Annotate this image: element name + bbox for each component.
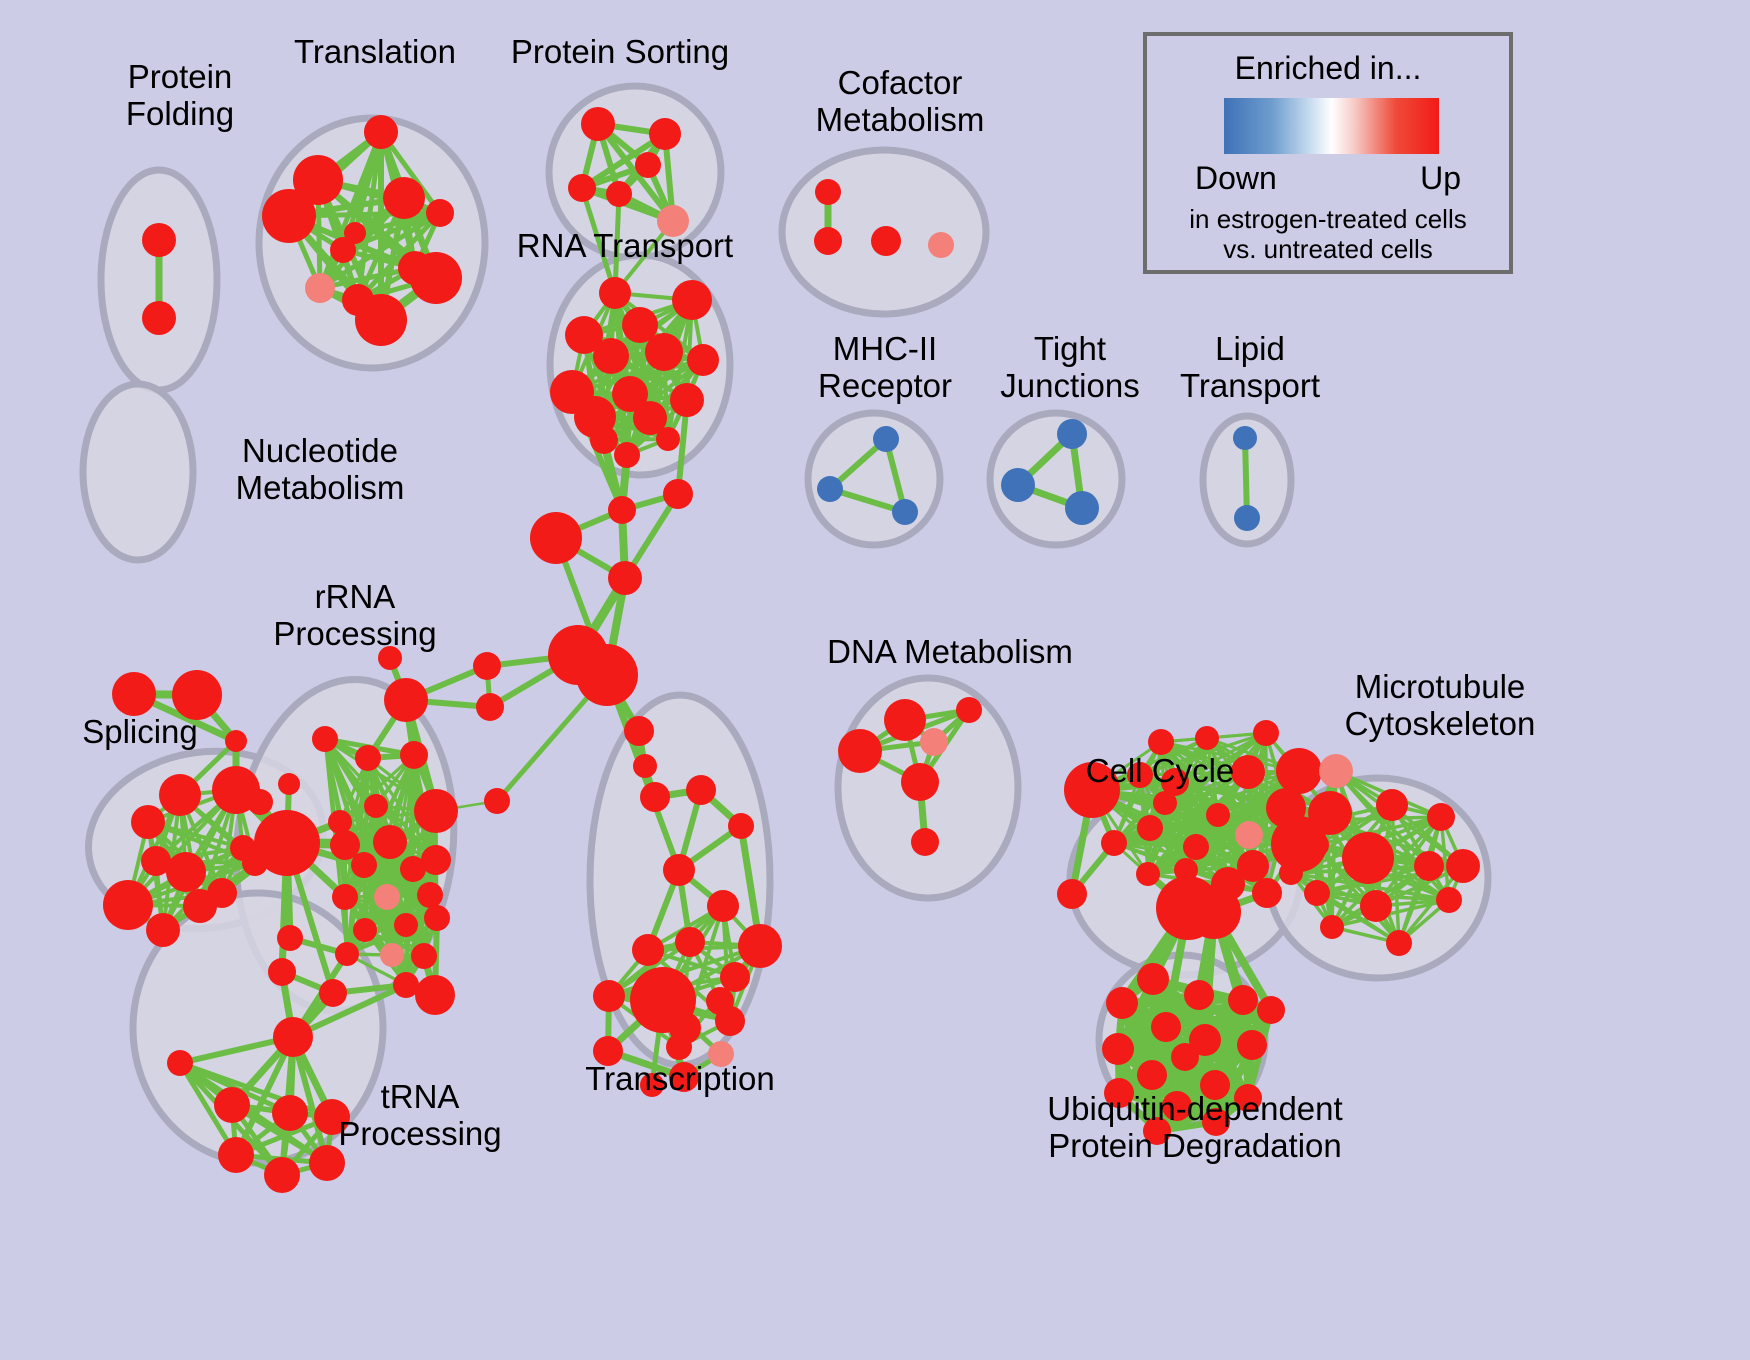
network-node[interactable] <box>207 878 237 908</box>
network-node[interactable] <box>720 962 750 992</box>
network-node[interactable] <box>815 179 841 205</box>
network-node[interactable] <box>159 774 201 816</box>
legend-box: Enriched in... Down Up in estrogen-treat… <box>1143 32 1513 274</box>
network-node[interactable] <box>355 745 381 771</box>
network-node[interactable] <box>1195 726 1219 750</box>
network-node[interactable] <box>426 199 454 227</box>
network-node[interactable] <box>1237 1030 1267 1060</box>
network-node[interactable] <box>884 699 926 741</box>
network-node[interactable] <box>706 987 734 1015</box>
network-node[interactable] <box>687 344 719 376</box>
network-node[interactable] <box>581 107 615 141</box>
network-node[interactable] <box>1065 491 1099 525</box>
network-node[interactable] <box>411 943 437 969</box>
network-node[interactable] <box>1253 720 1279 746</box>
network-node[interactable] <box>262 189 316 243</box>
network-node[interactable] <box>633 754 657 778</box>
network-node[interactable] <box>1233 426 1257 450</box>
network-node[interactable] <box>218 1137 254 1173</box>
network-node[interactable] <box>131 805 165 839</box>
network-node[interactable] <box>112 672 156 716</box>
network-node[interactable] <box>1414 851 1444 881</box>
legend-title: Enriched in... <box>1147 50 1509 87</box>
network-node[interactable] <box>606 181 632 207</box>
network-node[interactable] <box>649 118 681 150</box>
network-node[interactable] <box>670 383 704 417</box>
cluster-label-protein-sorting: Protein Sorting <box>480 33 760 70</box>
network-node[interactable] <box>624 716 654 746</box>
network-node[interactable] <box>1304 880 1330 906</box>
network-node[interactable] <box>901 763 939 801</box>
network-node[interactable] <box>1183 834 1209 860</box>
network-node[interactable] <box>672 280 712 320</box>
network-node[interactable] <box>1137 1060 1167 1090</box>
network-node[interactable] <box>142 301 176 335</box>
network-node[interactable] <box>335 942 359 966</box>
network-node[interactable] <box>892 499 918 525</box>
network-node[interactable] <box>911 828 939 856</box>
network-node[interactable] <box>1252 878 1282 908</box>
network-node[interactable] <box>277 925 303 951</box>
cluster-label-rrna-processing: rRNA Processing <box>245 578 465 652</box>
network-node[interactable] <box>273 1017 313 1057</box>
network-node[interactable] <box>1137 963 1169 995</box>
network-node[interactable] <box>1279 861 1303 885</box>
network-node[interactable] <box>1257 996 1285 1024</box>
network-node[interactable] <box>247 789 273 815</box>
network-node[interactable] <box>1151 1012 1181 1042</box>
network-node[interactable] <box>871 226 901 256</box>
network-node[interactable] <box>1436 887 1462 913</box>
legend-caption-line2: vs. untreated cells <box>1223 234 1433 264</box>
network-node[interactable] <box>272 1095 308 1131</box>
legend-low-label: Down <box>1195 160 1277 197</box>
network-node[interactable] <box>632 934 664 966</box>
network-node[interactable] <box>608 496 636 524</box>
network-node[interactable] <box>476 693 504 721</box>
cluster-label-rna-transport: RNA Transport <box>485 227 765 264</box>
network-node[interactable] <box>1319 754 1353 788</box>
network-node[interactable] <box>1001 468 1035 502</box>
network-node[interactable] <box>838 729 882 773</box>
network-node[interactable] <box>1057 879 1087 909</box>
network-node[interactable] <box>1106 987 1138 1019</box>
network-node[interactable] <box>142 223 176 257</box>
network-node[interactable] <box>264 1157 300 1193</box>
network-node[interactable] <box>1320 915 1344 939</box>
network-node[interactable] <box>473 652 501 680</box>
network-node[interactable] <box>414 789 458 833</box>
network-node[interactable] <box>635 152 661 178</box>
network-node[interactable] <box>1136 862 1160 886</box>
network-node[interactable] <box>424 905 450 931</box>
network-node[interactable] <box>608 561 642 595</box>
legend-caption-line1: in estrogen-treated cells <box>1189 204 1466 234</box>
network-node[interactable] <box>319 979 347 1007</box>
network-node[interactable] <box>146 913 180 947</box>
network-node[interactable] <box>484 788 510 814</box>
legend-color-gradient-bar <box>1224 98 1439 154</box>
network-node[interactable] <box>675 927 705 957</box>
network-node[interactable] <box>814 227 842 255</box>
cluster-label-transcription: Transcription <box>555 1060 805 1097</box>
network-node[interactable] <box>305 273 335 303</box>
cluster-label-microtubule-cytoskeleton: Microtubule Cytoskeleton <box>1285 668 1595 742</box>
network-node[interactable] <box>364 115 398 149</box>
network-node[interactable] <box>103 880 153 930</box>
network-node[interactable] <box>364 794 388 818</box>
network-node[interactable] <box>738 924 782 968</box>
cluster-label-tight-junctions: Tight Junctions <box>975 330 1165 404</box>
network-node[interactable] <box>593 338 629 374</box>
network-node[interactable] <box>312 726 338 752</box>
network-node[interactable] <box>410 252 462 304</box>
network-node[interactable] <box>1206 803 1230 827</box>
network-node[interactable] <box>1228 985 1258 1015</box>
network-node[interactable] <box>656 427 680 451</box>
network-node[interactable] <box>344 222 366 244</box>
network-node[interactable] <box>384 678 428 722</box>
network-node[interactable] <box>593 980 625 1012</box>
network-node[interactable] <box>1376 789 1408 821</box>
cluster-label-cofactor-metabolism: Cofactor Metabolism <box>775 64 1025 138</box>
network-node[interactable] <box>1386 930 1412 956</box>
network-node[interactable] <box>645 333 683 371</box>
network-node[interactable] <box>1137 815 1163 841</box>
network-node[interactable] <box>394 913 418 937</box>
network-node[interactable] <box>1427 803 1455 831</box>
network-node[interactable] <box>417 882 443 908</box>
network-node[interactable] <box>1235 821 1263 849</box>
network-node[interactable] <box>1153 791 1177 815</box>
cluster-label-nucleotide-metabolism: Nucleotide Metabolism <box>195 432 445 506</box>
network-node[interactable] <box>920 728 948 756</box>
network-node[interactable] <box>1102 1033 1134 1065</box>
network-node[interactable] <box>214 1087 250 1123</box>
network-node[interactable] <box>380 943 404 967</box>
cluster-label-ubiquitin-protein-degradation: Ubiquitin-dependent Protein Degradation <box>985 1090 1405 1164</box>
network-node[interactable] <box>1184 980 1214 1010</box>
network-node[interactable] <box>1360 890 1392 922</box>
network-node[interactable] <box>568 174 596 202</box>
network-node[interactable] <box>355 294 407 346</box>
network-node[interactable] <box>166 852 206 892</box>
network-node[interactable] <box>1276 748 1322 794</box>
network-node[interactable] <box>1303 832 1329 858</box>
network-node[interactable] <box>373 825 407 859</box>
network-node[interactable] <box>141 846 171 876</box>
network-node[interactable] <box>928 232 954 258</box>
network-node[interactable] <box>728 813 754 839</box>
network-node[interactable] <box>873 426 899 452</box>
network-node[interactable] <box>640 782 670 812</box>
network-figure: Protein Folding Translation Protein Sort… <box>0 0 1750 1360</box>
network-node[interactable] <box>332 884 358 910</box>
network-node[interactable] <box>590 426 618 454</box>
network-node[interactable] <box>353 918 377 942</box>
network-node[interactable] <box>663 479 693 509</box>
network-node[interactable] <box>1057 419 1087 449</box>
cluster-label-mhc-ii-receptor: MHC-II Receptor <box>790 330 980 404</box>
network-node[interactable] <box>1171 1043 1199 1071</box>
network-node[interactable] <box>817 476 843 502</box>
network-node[interactable] <box>1187 885 1241 939</box>
cluster-label-lipid-transport: Lipid Transport <box>1155 330 1345 404</box>
network-node[interactable] <box>1101 830 1127 856</box>
network-node[interactable] <box>599 277 631 309</box>
network-node[interactable] <box>254 810 320 876</box>
cluster-label-translation: Translation <box>250 33 500 70</box>
network-node[interactable] <box>268 958 296 986</box>
network-node[interactable] <box>669 1012 701 1044</box>
network-node[interactable] <box>614 442 640 468</box>
cluster-label-cell-cycle: Cell Cycle <box>1050 752 1270 789</box>
network-node[interactable] <box>400 741 428 769</box>
network-node[interactable] <box>1314 807 1340 833</box>
network-node[interactable] <box>421 845 451 875</box>
network-node[interactable] <box>576 644 638 706</box>
network-node[interactable] <box>1234 505 1260 531</box>
network-node[interactable] <box>956 697 982 723</box>
network-node[interactable] <box>663 854 695 886</box>
network-node[interactable] <box>707 890 739 922</box>
network-node[interactable] <box>1446 849 1480 883</box>
network-node[interactable] <box>1342 832 1394 884</box>
network-node[interactable] <box>530 512 582 564</box>
cluster-label-dna-metabolism: DNA Metabolism <box>800 633 1100 670</box>
cluster-label-splicing: Splicing <box>50 713 230 750</box>
network-node[interactable] <box>351 852 377 878</box>
network-node[interactable] <box>278 773 300 795</box>
network-node[interactable] <box>167 1050 193 1076</box>
network-node[interactable] <box>383 177 425 219</box>
legend-high-label: Up <box>1420 160 1461 197</box>
legend-caption: in estrogen-treated cells vs. untreated … <box>1147 204 1509 264</box>
cluster-label-trna-processing: tRNA Processing <box>310 1078 530 1152</box>
network-node[interactable] <box>374 884 400 910</box>
network-node[interactable] <box>415 975 455 1015</box>
network-node[interactable] <box>686 775 716 805</box>
cluster-ellipse-nucleotide-metabolism <box>83 384 193 560</box>
